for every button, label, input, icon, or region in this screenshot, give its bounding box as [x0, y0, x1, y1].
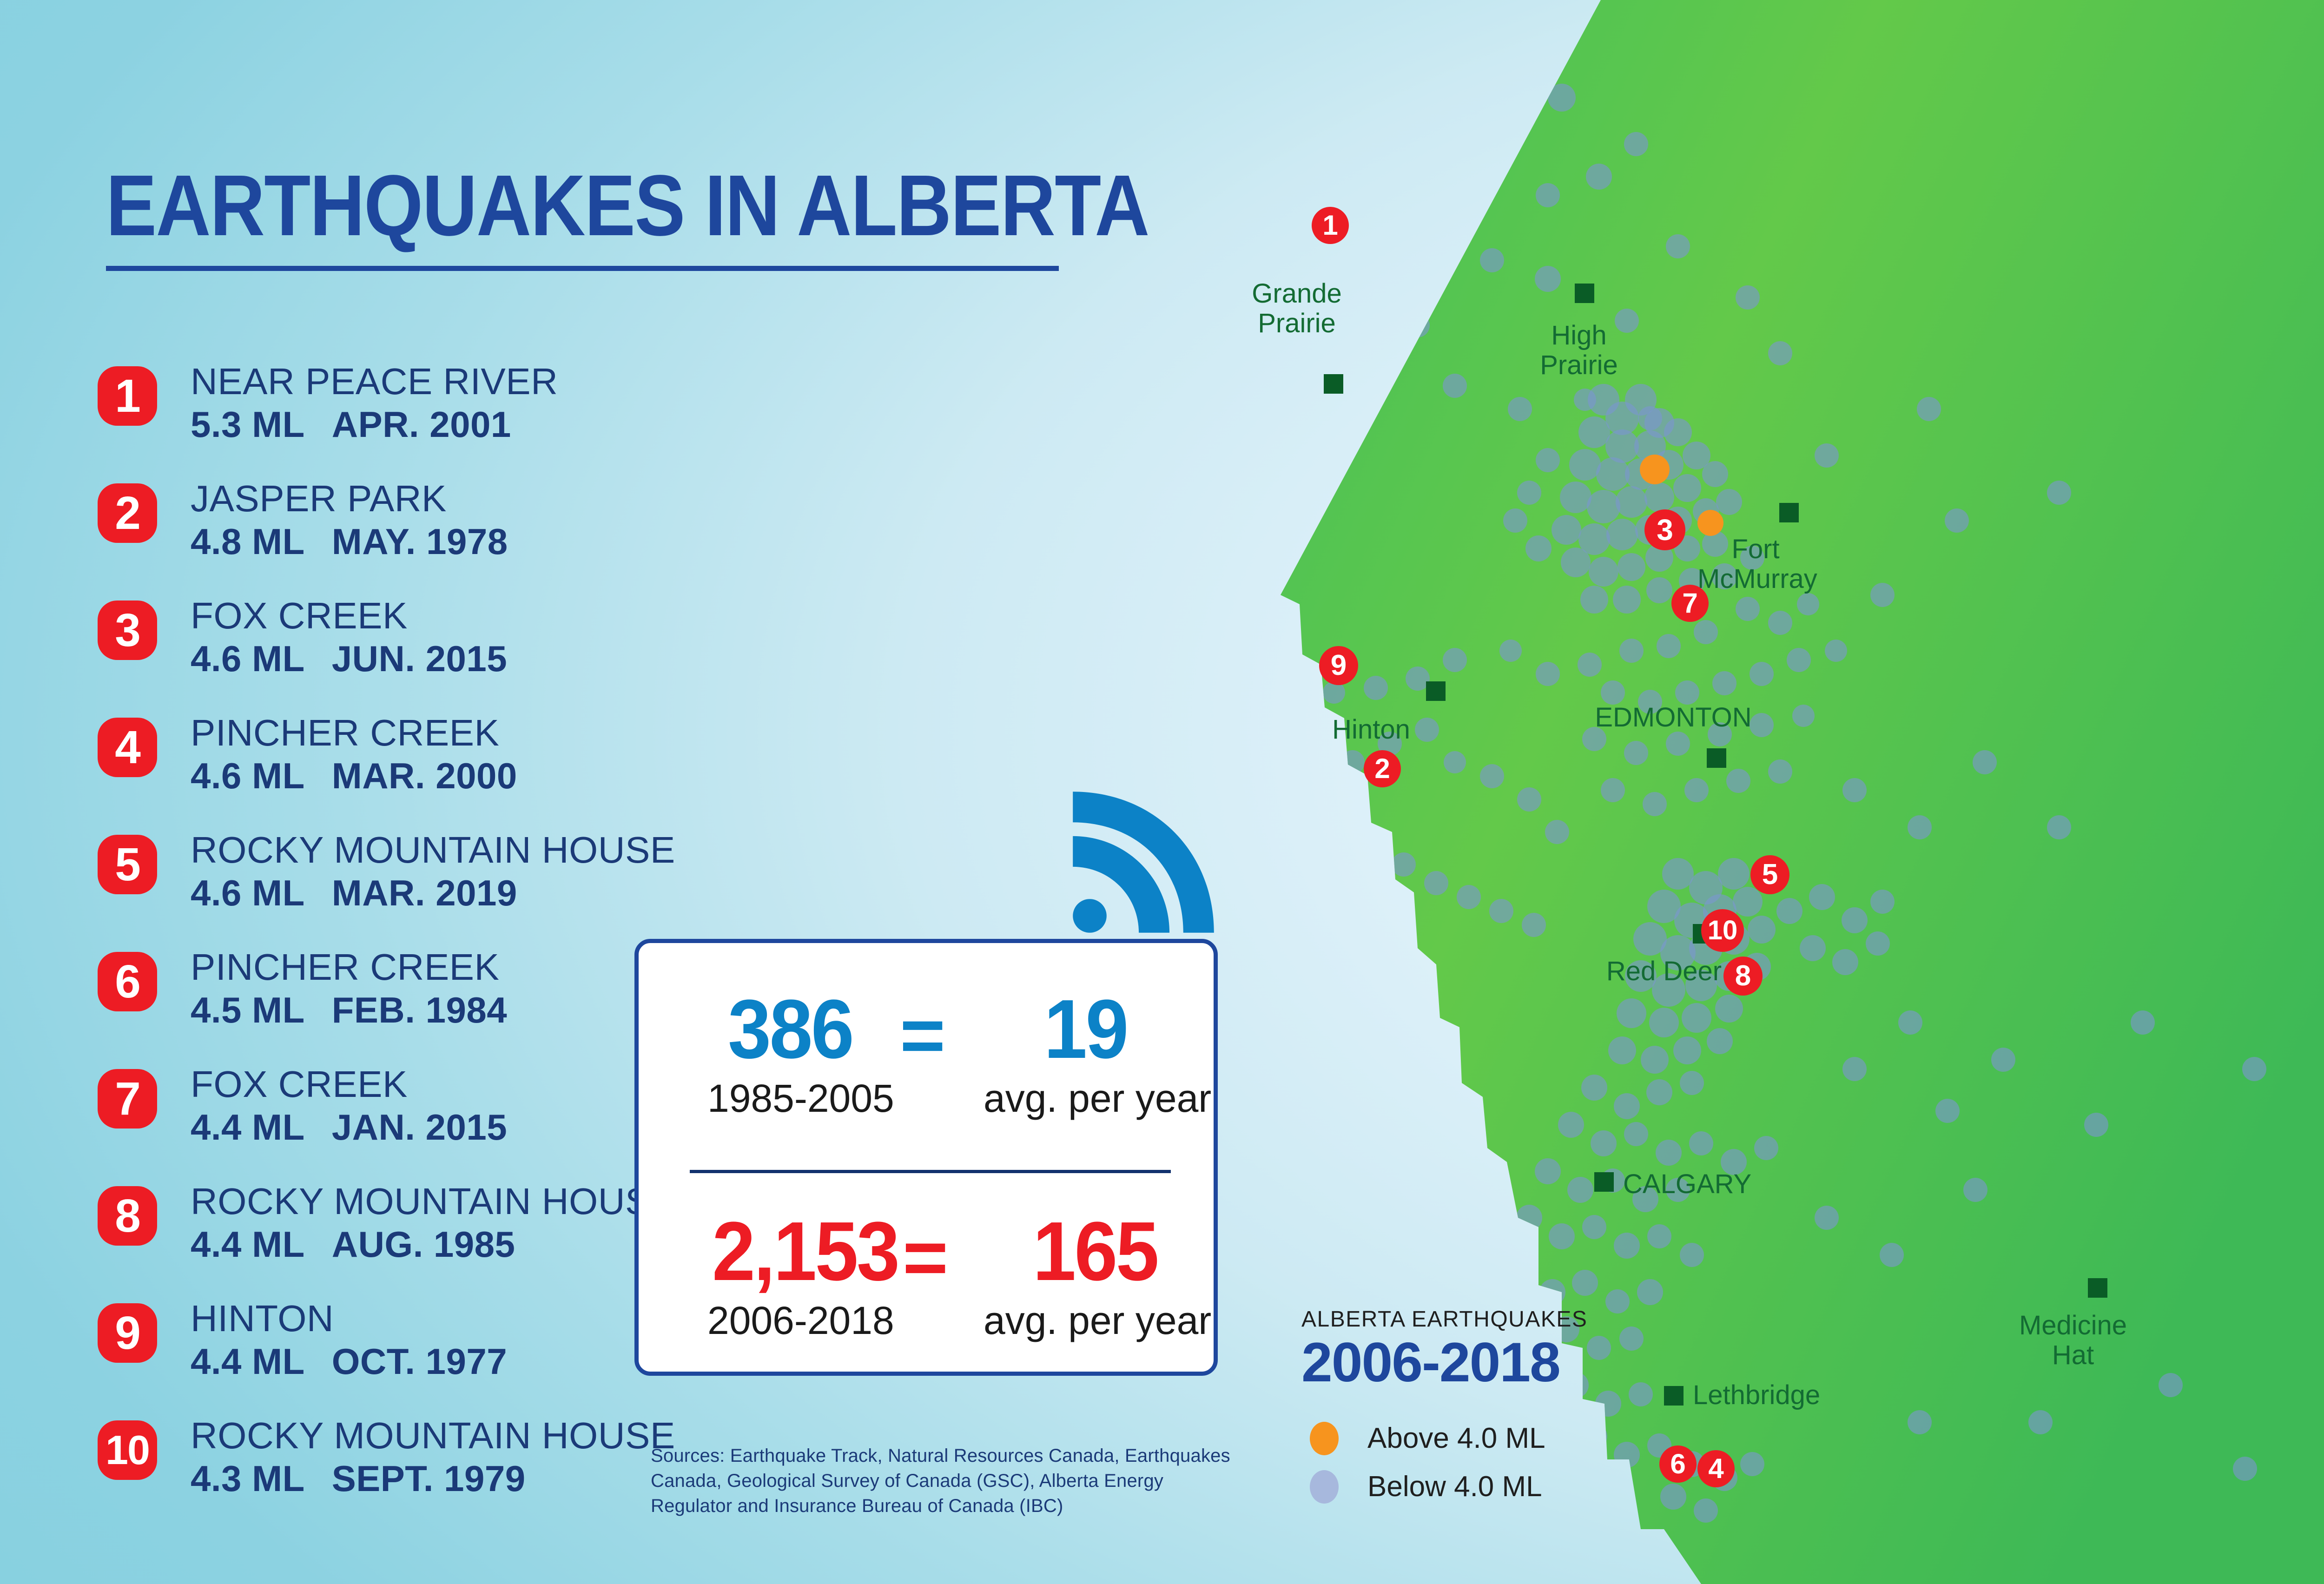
quake-meta: 4.4 MLJAN. 2015	[191, 1109, 507, 1146]
quake-meta: 4.6 MLMAR. 2000	[191, 758, 517, 795]
map-marker-1[interactable]: 1	[1312, 207, 1349, 244]
quake-location: JASPER PARK	[191, 480, 508, 518]
quake-location: HINTON	[191, 1300, 507, 1338]
rank-badge: 10	[98, 1420, 157, 1480]
list-item[interactable]: 4 PINCHER CREEK 4.6 MLMAR. 2000	[98, 714, 646, 831]
quake-date: MAY. 1978	[332, 521, 508, 562]
city-label-lethbridge: Lethbridge	[1693, 1380, 1851, 1410]
title-underline	[106, 266, 1059, 271]
stat-average-label: avg. per year	[984, 1079, 1211, 1118]
city-square-fort-mcmurray	[1779, 503, 1799, 522]
map-marker-10[interactable]: 10	[1701, 909, 1744, 952]
legend-item-below[interactable]: Below 4.0 ML	[1301, 1463, 1590, 1511]
quake-meta: 4.8 MLMAY. 1978	[191, 523, 508, 561]
quake-date: JAN. 2015	[332, 1107, 507, 1148]
stat-row-1985-2005: 386 = 19 1985-2005 avg. per year	[639, 988, 1214, 1160]
rank-badge: 2	[98, 483, 157, 543]
quake-location: ROCKY MOUNTAIN HOUSE	[191, 1417, 675, 1455]
city-label-edmonton: EDMONTON	[1576, 703, 1771, 733]
stat-count: 386	[728, 988, 852, 1071]
rank-badge: 3	[98, 601, 157, 660]
quake-meta: 5.3 MLAPR. 2001	[191, 406, 558, 443]
list-item[interactable]: 6 PINCHER CREEK 4.5 MLFEB. 1984	[98, 948, 646, 1065]
sources-note: Sources: Earthquake Track, Natural Resou…	[651, 1443, 1232, 1518]
list-item[interactable]: 9 HINTON 4.4 MLOCT. 1977	[98, 1300, 646, 1417]
quake-date: JUN. 2015	[332, 638, 507, 679]
quake-meta: 4.5 MLFEB. 1984	[191, 992, 507, 1029]
city-label-hinton: Hinton	[1311, 715, 1432, 745]
city-label-calgary: CALGARY	[1623, 1169, 1776, 1199]
legend-item-above[interactable]: Above 4.0 ML	[1301, 1414, 1590, 1463]
quake-magnitude: 4.6 ML	[191, 638, 305, 679]
quake-meta: 4.4 MLAUG. 1985	[191, 1226, 675, 1263]
map-marker-4[interactable]: 4	[1697, 1450, 1735, 1487]
quake-meta: 4.3 MLSEPT. 1979	[191, 1460, 675, 1498]
rank-badge: 4	[98, 718, 157, 777]
quake-meta: 4.6 MLMAR. 2019	[191, 875, 675, 912]
rank-badge: 1	[98, 366, 157, 426]
city-square-lethbridge	[1664, 1386, 1684, 1406]
stat-average: 165	[1033, 1210, 1157, 1294]
quake-date: SEPT. 1979	[332, 1458, 526, 1499]
stat-row-2006-2018: 2,153 = 165 2006-2018 avg. per year	[639, 1210, 1214, 1382]
quake-magnitude: 4.8 ML	[191, 521, 305, 562]
city-square-high-prairie	[1575, 284, 1594, 303]
quake-location: FOX CREEK	[191, 1065, 507, 1103]
top-earthquakes-list: 1 NEAR PEACE RIVER 5.3 MLAPR. 2001 2 JAS…	[98, 363, 646, 1534]
city-label-grande-prairie: Grande Prairie	[1236, 279, 1357, 338]
rank-badge: 6	[98, 952, 157, 1011]
legend-label-above: Above 4.0 ML	[1367, 1424, 1545, 1453]
quake-meta: 4.4 MLOCT. 1977	[191, 1343, 507, 1380]
quake-magnitude: 4.5 ML	[191, 990, 305, 1030]
quake-date: MAR. 2000	[332, 755, 517, 796]
legend-year-range: 2006-2018	[1301, 1334, 1590, 1390]
list-item[interactable]: 2 JASPER PARK 4.8 MLMAY. 1978	[98, 480, 646, 597]
city-label-fort-mcmurray: Fort McMurray	[1697, 535, 1814, 594]
quake-date: AUG. 1985	[332, 1224, 515, 1265]
rank-badge: 9	[98, 1303, 157, 1363]
equals-sign: =	[903, 1218, 948, 1296]
quake-magnitude: 4.3 ML	[191, 1458, 305, 1499]
map-marker-2[interactable]: 2	[1364, 750, 1401, 787]
quake-magnitude: 4.6 ML	[191, 872, 305, 913]
stats-divider	[690, 1170, 1171, 1173]
seismic-signal-icon	[1067, 785, 1220, 939]
list-item[interactable]: 5 ROCKY MOUNTAIN HOUSE 4.6 MLMAR. 2019	[98, 831, 646, 948]
map-marker-3[interactable]: 3	[1644, 509, 1685, 550]
city-square-calgary	[1594, 1172, 1614, 1192]
page-title: EARTHQUAKES IN ALBERTA	[106, 163, 1149, 249]
map-marker-6[interactable]: 6	[1659, 1445, 1697, 1483]
equals-sign: =	[900, 996, 945, 1074]
list-item[interactable]: 1 NEAR PEACE RIVER 5.3 MLAPR. 2001	[98, 363, 646, 480]
quake-location: NEAR PEACE RIVER	[191, 363, 558, 401]
quake-location: PINCHER CREEK	[191, 948, 507, 986]
stat-average-label: avg. per year	[984, 1301, 1211, 1340]
quake-magnitude: 5.3 ML	[191, 404, 305, 445]
stat-count: 2,153	[712, 1210, 898, 1294]
list-item[interactable]: 8 ROCKY MOUNTAIN HOUSE 4.4 MLAUG. 1985	[98, 1182, 646, 1300]
stats-comparison-box: 386 = 19 1985-2005 avg. per year 2,153 =…	[634, 939, 1218, 1376]
quake-magnitude: 4.4 ML	[191, 1107, 305, 1148]
map-legend: ALBERTA EARTHQUAKES 2006-2018 Above 4.0 …	[1301, 1308, 1590, 1511]
quake-magnitude: 4.6 ML	[191, 755, 305, 796]
city-square-medicine-hat	[2088, 1278, 2107, 1298]
stat-average: 19	[1044, 988, 1127, 1071]
city-label-medicine-hat: Medicine Hat	[2008, 1311, 2138, 1370]
quake-location: PINCHER CREEK	[191, 714, 517, 752]
quake-date: APR. 2001	[332, 404, 511, 445]
rank-badge: 5	[98, 835, 157, 894]
map-marker-7[interactable]: 7	[1671, 585, 1709, 622]
map-marker-8[interactable]: 8	[1723, 957, 1763, 996]
quake-date: FEB. 1984	[332, 990, 507, 1030]
legend-dot-blue-icon	[1310, 1470, 1339, 1504]
rank-badge: 8	[98, 1186, 157, 1246]
quake-meta: 4.6 MLJUN. 2015	[191, 640, 507, 678]
legend-dot-orange-icon	[1310, 1422, 1339, 1455]
quake-location: FOX CREEK	[191, 597, 507, 635]
rank-badge: 7	[98, 1069, 157, 1129]
quake-magnitude: 4.4 ML	[191, 1341, 305, 1382]
quake-magnitude: 4.4 ML	[191, 1224, 305, 1265]
map-marker-9[interactable]: 9	[1319, 646, 1358, 685]
quake-location: ROCKY MOUNTAIN HOUSE	[191, 1182, 675, 1221]
city-square-edmonton	[1707, 748, 1726, 768]
city-square-hinton	[1426, 681, 1446, 701]
list-item[interactable]: 3 FOX CREEK 4.6 MLJUN. 2015	[98, 597, 646, 714]
city-label-red-deer: Red Deer	[1594, 957, 1734, 986]
legend-kicker: ALBERTA EARTHQUAKES	[1301, 1308, 1590, 1331]
list-item[interactable]: 7 FOX CREEK 4.4 MLJAN. 2015	[98, 1065, 646, 1182]
quake-location: ROCKY MOUNTAIN HOUSE	[191, 831, 675, 869]
list-item[interactable]: 10 ROCKY MOUNTAIN HOUSE 4.3 MLSEPT. 1979	[98, 1417, 646, 1534]
city-square-grande-prairie	[1324, 374, 1343, 394]
stat-period: 1985-2005	[707, 1079, 894, 1118]
stat-period: 2006-2018	[707, 1301, 894, 1340]
quake-date: OCT. 1977	[332, 1341, 507, 1382]
map-marker-5[interactable]: 5	[1750, 855, 1789, 894]
city-label-high-prairie: High Prairie	[1525, 321, 1632, 380]
quake-date: MAR. 2019	[332, 872, 517, 913]
legend-label-below: Below 4.0 ML	[1367, 1472, 1542, 1501]
